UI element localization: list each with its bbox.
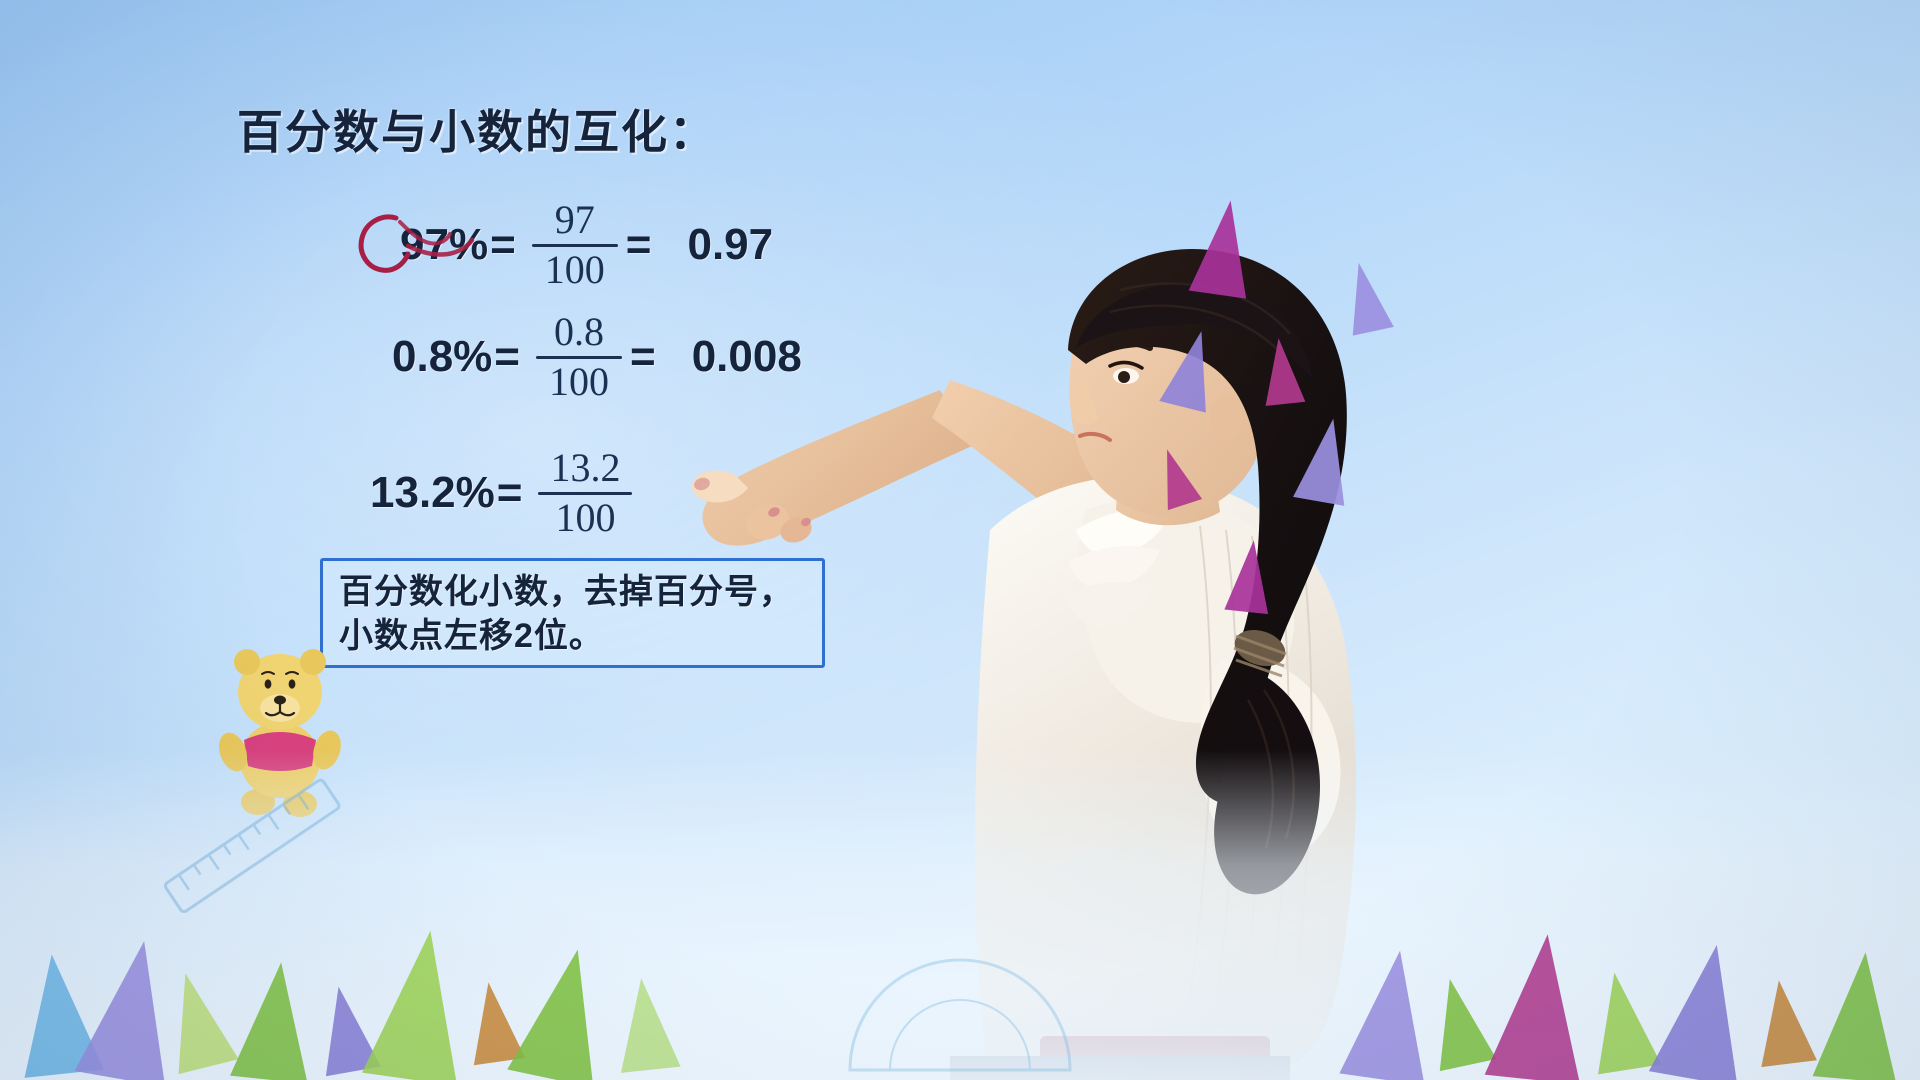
equation-3-equals: = [497,468,523,518]
decor-triangle [230,958,320,1080]
protractor-icon [830,930,1090,1080]
page-title: 百分数与小数的互化： [237,96,717,162]
equation-2-equals: = [494,332,520,382]
equation-3-lhs: 13.2% [370,468,495,518]
decor-triangle [611,975,680,1073]
ruler-icon [150,770,360,930]
decor-triangle [1485,929,1596,1080]
decor-triangle [1224,538,1275,614]
lesson-video-frame: 百分数与小数的互化： 97% = 97 100 = 0.97 0.8% = 0.… [0,0,1920,1080]
decor-triangle [1813,949,1908,1080]
equation-1-lhs: 97% [400,220,488,270]
equation-1-equals: = [490,220,516,270]
decor-triangle [1259,336,1306,406]
decor-triangle [362,924,478,1080]
equation-2-lhs: 0.8% [392,332,492,382]
decor-triangle [1751,977,1817,1067]
bottom-decoration-band [0,750,1920,1080]
